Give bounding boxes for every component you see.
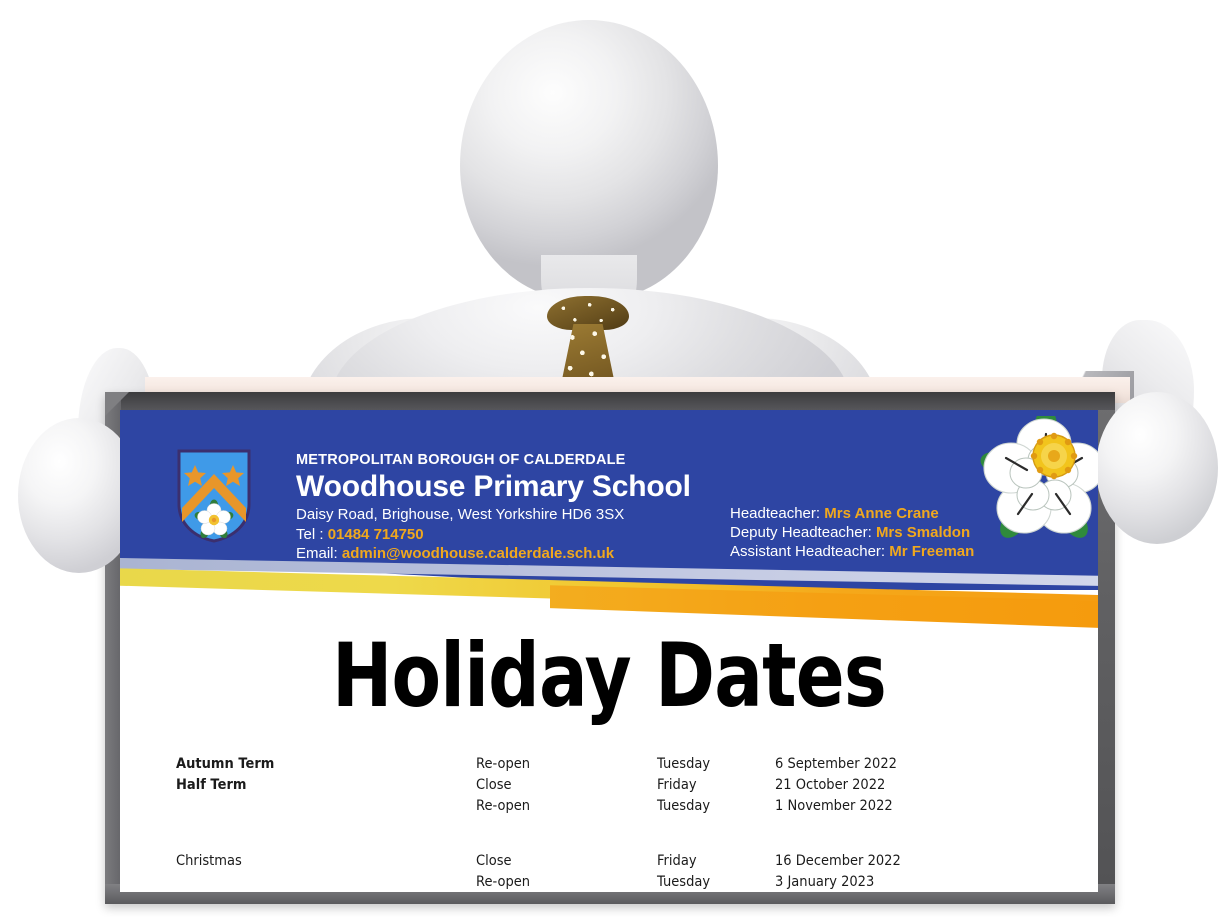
action-cell: Re-open [476,873,639,892]
page-title: Holiday Dates [208,632,1010,720]
frame-bevel-top [105,392,1115,410]
date-cell: 1 November 2022 [775,797,1009,816]
day-cell: Tuesday [657,873,763,892]
staff-name: Mrs Anne Crane [824,505,938,522]
borough-line: METROPOLITAN BOROUGH OF CALDERDALE [296,452,726,469]
right-hand [1096,392,1218,544]
term-cell: Christmas [176,852,446,871]
letterhead-left-text: METROPOLITAN BOROUGH OF CALDERDALE Woodh… [296,452,726,564]
staff-name: Mr Freeman [889,543,974,560]
letterhead-header: METROPOLITAN BOROUGH OF CALDERDALE Woodh… [120,410,1098,590]
table-row: Re-open Tuesday 3 January 2023 [176,873,1056,892]
email-label: Email: [296,545,338,562]
day-cell: Friday [657,776,763,795]
table-row: Re-open Tuesday 1 November 2022 [176,797,1056,818]
table-row: Christmas Close Friday 16 December 2022 [176,852,1056,873]
action-cell: Re-open [476,797,639,816]
day-cell: Tuesday [657,755,763,774]
document-page: METROPOLITAN BOROUGH OF CALDERDALE Woodh… [120,410,1098,892]
table-row: Autumn Term Re-open Tuesday 6 September … [176,755,1056,776]
telephone-line: Tel : 01484 714750 [296,525,726,545]
school-address: Daisy Road, Brighouse, West Yorkshire HD… [296,505,726,525]
staff-row: Headteacher: Mrs Anne Crane [730,504,974,523]
date-cell: 21 October 2022 [775,776,1009,795]
date-cell: 6 September 2022 [775,755,1009,774]
term-cell: Autumn Term [176,755,446,774]
table-spacer-row [176,818,1056,852]
staff-role: Assistant Headteacher: [730,543,885,560]
day-cell: Tuesday [657,797,763,816]
school-name: Woodhouse Primary School [296,470,726,504]
holiday-dates-table: Autumn Term Re-open Tuesday 6 September … [176,755,1056,892]
staff-list: Headteacher: Mrs Anne Crane Deputy Headt… [730,504,974,561]
staff-row: Assistant Headteacher: Mr Freeman [730,542,974,561]
date-cell: 16 December 2022 [775,852,1009,871]
staff-role: Headteacher: [730,505,820,522]
day-cell: Friday [657,852,763,871]
telephone-value: 01484 714750 [328,526,424,543]
date-cell: 3 January 2023 [775,873,1009,892]
email-line: Email: admin@woodhouse.calderdale.sch.uk [296,544,726,564]
staff-row: Deputy Headteacher: Mrs Smaldon [730,523,974,542]
staff-name: Mrs Smaldon [876,524,970,541]
table-row: Half Term Close Friday 21 October 2022 [176,776,1056,797]
yorkshire-rose-icon [974,416,1098,551]
school-crest-icon [176,448,252,544]
email-value[interactable]: admin@woodhouse.calderdale.sch.uk [342,545,614,562]
staff-role: Deputy Headteacher: [730,524,872,541]
action-cell: Re-open [476,755,639,774]
action-cell: Close [476,852,639,871]
term-cell: Half Term [176,776,446,795]
telephone-label: Tel : [296,526,324,543]
action-cell: Close [476,776,639,795]
